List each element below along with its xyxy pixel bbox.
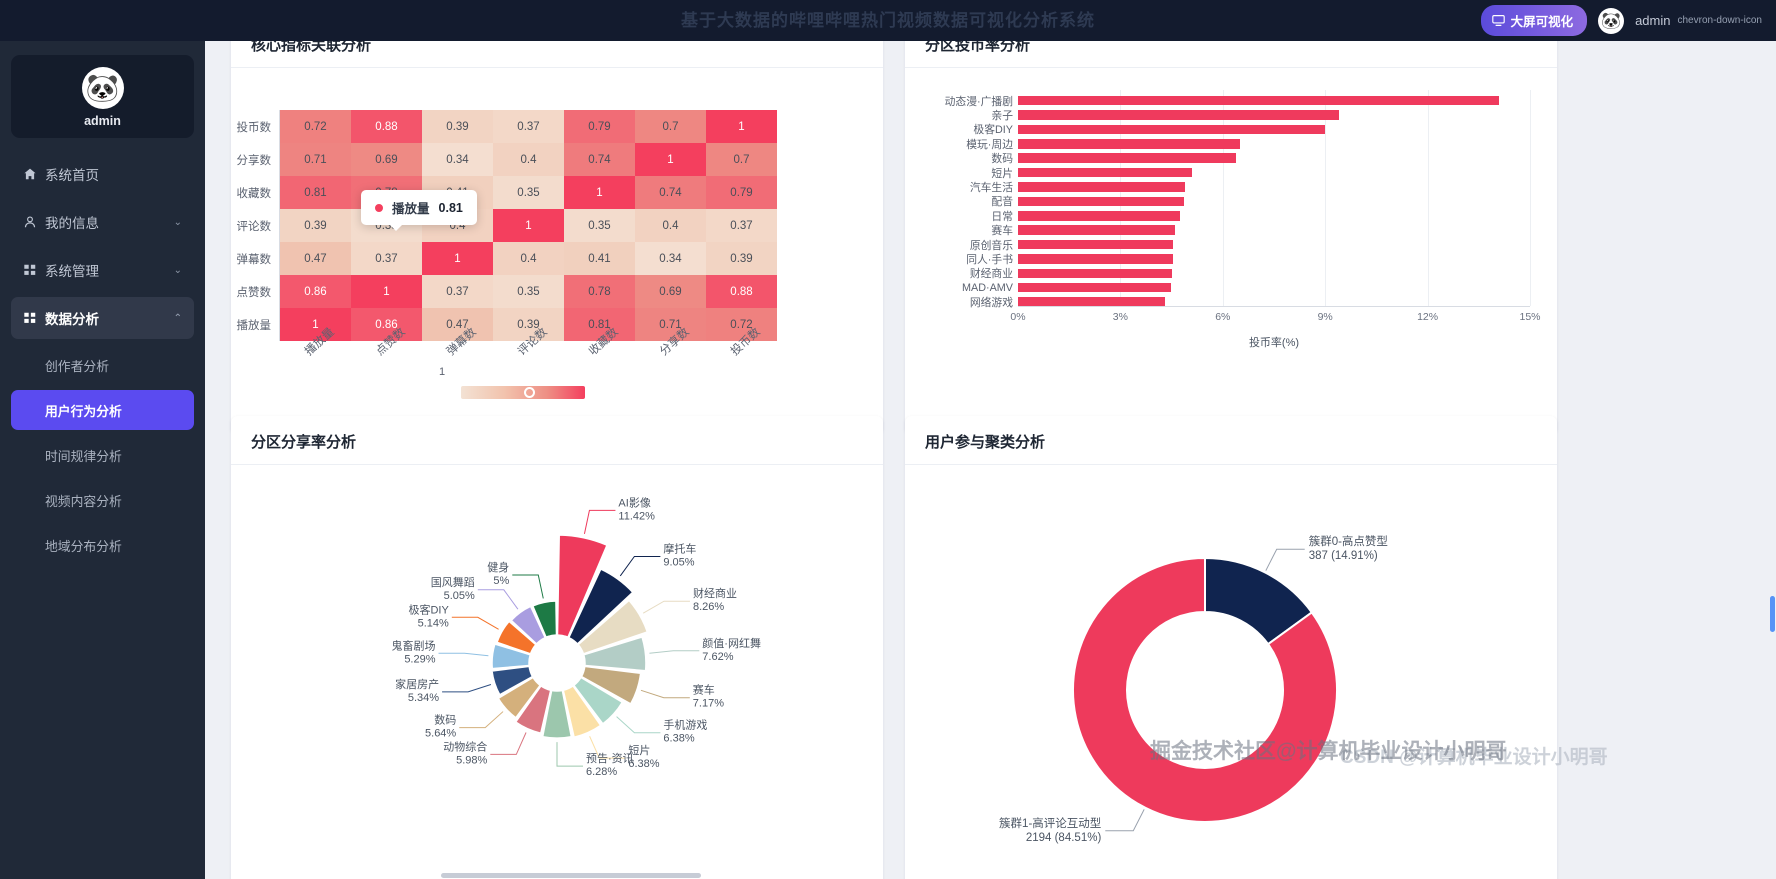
rose-label-value: 5.14% xyxy=(418,617,449,629)
bar-fill[interactable] xyxy=(1018,153,1236,163)
header-actions: 大屏可视化 🐼 admin chevron-down-icon xyxy=(1481,0,1762,41)
heatmap-cell[interactable]: 0.39 xyxy=(706,242,777,275)
sidebar-item-home[interactable]: 系统首页 xyxy=(11,153,194,195)
heatmap-y-label: 弹幕数 xyxy=(231,242,276,275)
rose-leader-line xyxy=(442,684,491,691)
sidebar-menu: 系统首页 我的信息 ⌄ 系统管理 ⌄ xyxy=(0,153,205,565)
bar-row[interactable]: 极客DIY xyxy=(1018,123,1530,136)
bar-x-axis-line xyxy=(1018,306,1530,307)
rose-label-value: 5% xyxy=(493,575,509,587)
sidebar-item-data-analysis[interactable]: 数据分析 ⌃ xyxy=(11,297,194,339)
heatmap-y-label: 投币数 xyxy=(231,110,276,143)
bar-row[interactable]: 汽车生活 xyxy=(1018,180,1530,193)
heatmap-y-axis: 投币数分享数收藏数评论数弹幕数点赞数播放量 xyxy=(231,110,276,341)
bar-chart[interactable]: 动态漫·广播剧亲子极客DIY模玩·周边数码短片汽车生活配音日常赛车原创音乐同人·… xyxy=(905,68,1557,408)
heatmap-cell[interactable]: 0.88 xyxy=(706,275,777,308)
sidebar-item-my-info-label: 我的信息 xyxy=(45,212,174,232)
rose-label-name: 预告·资讯 xyxy=(586,752,634,765)
home-icon xyxy=(23,167,45,181)
heatmap-cell[interactable]: 0.37 xyxy=(706,209,777,242)
sidebar-profile-name: admin xyxy=(11,114,194,128)
rose-chart-svg[interactable]: AI影像11.42%摩托车9.05%财经商业8.26%颜值·网红舞7.62%赛车… xyxy=(231,465,883,875)
bar-fill[interactable] xyxy=(1018,182,1185,192)
bar-fill[interactable] xyxy=(1018,96,1499,106)
bar-x-tick-label: 12% xyxy=(1417,311,1438,323)
bar-category-label: 财经商业 xyxy=(970,265,1013,281)
rose-label-value: 6.38% xyxy=(663,733,694,745)
sidebar-subitem-time-pattern-analysis[interactable]: 时间规律分析 xyxy=(11,435,194,475)
main-content: 核心指标关联分析 投币数分享数收藏数评论数弹幕数点赞数播放量 0.720.880… xyxy=(205,41,1776,879)
bar-x-tick-label: 9% xyxy=(1318,311,1333,323)
horizontal-scrollbar-thumb[interactable] xyxy=(441,873,701,878)
screen-icon xyxy=(1492,14,1505,27)
heatmap-cell[interactable]: 0.86 xyxy=(280,275,351,308)
heatmap-cell[interactable]: 0.47 xyxy=(280,242,351,275)
bar-row[interactable]: 赛车 xyxy=(1018,224,1530,237)
rose-label-name: 赛车 xyxy=(693,683,715,697)
donut-label-value: 387 (14.91%) xyxy=(1309,550,1378,562)
card-heatmap: 核心指标关联分析 投币数分享数收藏数评论数弹幕数点赞数播放量 0.720.880… xyxy=(231,41,883,434)
donut-label-value: 2194 (84.51%) xyxy=(1026,832,1102,844)
heatmap-cell[interactable]: 0.7 xyxy=(635,110,706,143)
heatmap-cell[interactable]: 0.37 xyxy=(351,242,422,275)
sidebar: 🐼 admin 系统首页 我的信息 ⌄ xyxy=(0,41,205,879)
rose-leader-line xyxy=(617,717,661,733)
bar-fill[interactable] xyxy=(1018,225,1175,235)
card-rose-chart: 分区分享率分析 AI影像11.42%摩托车9.05%财经商业8.26%颜值·网红… xyxy=(231,416,883,879)
bar-row[interactable]: 同人·手书 xyxy=(1018,252,1530,265)
sidebar-item-system-mgmt[interactable]: 系统管理 ⌄ xyxy=(11,249,194,291)
sidebar-subitem-user-behavior-analysis[interactable]: 用户行为分析 xyxy=(11,390,194,430)
rose-label-value: 5.98% xyxy=(456,754,487,766)
heatmap-cell[interactable]: 0.4 xyxy=(635,209,706,242)
sidebar-item-my-info[interactable]: 我的信息 ⌄ xyxy=(11,201,194,243)
heatmap-cell[interactable]: 0.78 xyxy=(564,275,635,308)
rose-label-name: 手机游戏 xyxy=(663,718,707,732)
grid-icon xyxy=(23,263,45,277)
rose-label-value: 7.17% xyxy=(693,698,724,710)
heatmap-cell[interactable]: 0.79 xyxy=(564,110,635,143)
bar-x-tick-label: 6% xyxy=(1215,311,1230,323)
bar-fill[interactable] xyxy=(1018,110,1339,120)
panda-avatar: 🐼 xyxy=(82,67,124,109)
heatmap-cell[interactable]: 0.4 xyxy=(493,143,564,176)
chevron-down-icon[interactable]: chevron-down-icon xyxy=(1678,15,1763,26)
rose-label-name: 健身 xyxy=(487,560,509,574)
heatmap-cell[interactable]: 0.35 xyxy=(493,275,564,308)
card-heatmap-title: 核心指标关联分析 xyxy=(231,41,883,68)
sidebar-item-system-mgmt-label: 系统管理 xyxy=(45,260,174,280)
sidebar-subitem-video-content-analysis[interactable]: 视频内容分析 xyxy=(11,480,194,520)
avatar[interactable]: 🐼 xyxy=(1598,8,1624,34)
bar-row[interactable]: 动态漫·广播剧 xyxy=(1018,94,1530,107)
heatmap-cell[interactable]: 0.34 xyxy=(635,242,706,275)
bar-row[interactable]: 财经商业 xyxy=(1018,267,1530,280)
heatmap-cell[interactable]: 0.34 xyxy=(422,143,493,176)
card-donut-chart-title: 用户参与聚类分析 xyxy=(905,416,1557,465)
rose-label-name: AI影像 xyxy=(618,496,650,509)
bigscreen-button[interactable]: 大屏可视化 xyxy=(1481,5,1588,36)
bar-fill[interactable] xyxy=(1018,254,1173,264)
bar-fill[interactable] xyxy=(1018,269,1172,279)
rose-label-value: 9.05% xyxy=(663,557,694,569)
bar-fill[interactable] xyxy=(1018,240,1173,250)
heatmap-cell[interactable]: 0.35 xyxy=(564,209,635,242)
rose-label-name: 数码 xyxy=(434,714,456,727)
rose-label-value: 7.62% xyxy=(702,651,733,663)
bar-category-label: 网络游戏 xyxy=(970,294,1013,310)
heatmap-cell[interactable]: 0.74 xyxy=(635,176,706,209)
sidebar-subitem-time-pattern-analysis-label: 时间规律分析 xyxy=(45,446,122,465)
heatmap-cell[interactable]: 0.88 xyxy=(351,110,422,143)
rose-label-value: 5.29% xyxy=(404,653,435,665)
sidebar-subitem-creator-analysis-label: 创作者分析 xyxy=(45,356,109,375)
rose-leader-line xyxy=(490,732,526,754)
heatmap-legend-handle[interactable] xyxy=(524,387,535,398)
bar-fill[interactable] xyxy=(1018,139,1240,149)
top-header-bar: 基于大数据的哔哩哔哩热门视频数据可视化分析系统 大屏可视化 🐼 admin ch… xyxy=(0,0,1776,41)
heatmap-cell[interactable]: 0.69 xyxy=(635,275,706,308)
rose-label-name: 家居房产 xyxy=(395,677,439,691)
rose-chart[interactable]: AI影像11.42%摩托车9.05%财经商业8.26%颜值·网红舞7.62%赛车… xyxy=(231,465,883,875)
heatmap-cell[interactable]: 0.79 xyxy=(706,176,777,209)
rose-label-value: 5.05% xyxy=(444,590,475,602)
rose-label-value: 5.34% xyxy=(408,692,439,704)
rose-leader-line xyxy=(649,651,699,654)
bar-row[interactable]: 短片 xyxy=(1018,166,1530,179)
card-donut-chart: 用户参与聚类分析 簇群0-高点赞型387 (14.91%)簇群1-高评论互动型2… xyxy=(905,416,1557,879)
heatmap-legend-max-value: 1 xyxy=(439,366,445,378)
bar-gridline xyxy=(1530,90,1531,306)
bar-fill[interactable] xyxy=(1018,125,1325,135)
heatmap-cell[interactable]: 1 xyxy=(564,176,635,209)
donut-label-name: 簇群1-高评论互动型 xyxy=(999,816,1101,830)
heatmap-y-label: 收藏数 xyxy=(231,176,276,209)
bar-series[interactable]: 动态漫·广播剧亲子极客DIY模玩·周边数码短片汽车生活配音日常赛车原创音乐同人·… xyxy=(1018,94,1530,310)
bar-fill[interactable] xyxy=(1018,283,1171,293)
rose-leader-line xyxy=(584,510,615,533)
bar-row[interactable]: 日常 xyxy=(1018,209,1530,222)
heatmap-cell[interactable]: 0.37 xyxy=(422,275,493,308)
rose-leader-line xyxy=(557,742,583,766)
heatmap-cell[interactable]: 0.71 xyxy=(280,143,351,176)
heatmap-cell[interactable]: 1 xyxy=(635,143,706,176)
chevron-down-icon: ⌄ xyxy=(174,217,182,228)
bar-category-label: MAD·AMV xyxy=(962,282,1013,294)
rose-label-name: 动物综合 xyxy=(443,739,487,753)
heatmap-cell[interactable]: 1 xyxy=(351,275,422,308)
heatmap-cell[interactable]: 0.35 xyxy=(493,176,564,209)
heatmap-y-label: 播放量 xyxy=(231,308,276,341)
sidebar-item-data-analysis-label: 数据分析 xyxy=(45,308,174,328)
rose-label-value: 5.64% xyxy=(425,728,456,740)
rose-label-name: 国风舞蹈 xyxy=(431,576,475,589)
rose-label-name: 颜值·网红舞 xyxy=(702,637,761,650)
heatmap-cell[interactable]: 0.7 xyxy=(706,143,777,176)
heatmap-grid[interactable]: 0.720.880.390.370.790.710.710.690.340.40… xyxy=(279,110,777,341)
bar-row[interactable]: 数码 xyxy=(1018,152,1530,165)
bar-row[interactable]: MAD·AMV xyxy=(1018,281,1530,294)
heatmap-cell[interactable]: 0.72 xyxy=(280,110,351,143)
donut-leader-line xyxy=(1266,549,1305,570)
rose-leader-line xyxy=(620,557,660,576)
bar-row[interactable]: 亲子 xyxy=(1018,108,1530,121)
heatmap-cell[interactable]: 0.81 xyxy=(280,176,351,209)
chevron-up-icon: ⌃ xyxy=(174,313,182,324)
heatmap-cell[interactable]: 0.39 xyxy=(280,209,351,242)
heatmap-cell[interactable]: 1 xyxy=(422,242,493,275)
rose-label-name: 摩托车 xyxy=(663,542,696,556)
heatmap-y-label: 点赞数 xyxy=(231,275,276,308)
heatmap-cell[interactable]: 0.41 xyxy=(564,242,635,275)
heatmap-cell[interactable]: 0.4 xyxy=(493,242,564,275)
rose-label-name: 极客DIY xyxy=(408,602,449,616)
rose-label-value: 6.28% xyxy=(586,766,617,778)
rose-leader-line xyxy=(452,617,499,629)
donut-leader-line xyxy=(1105,809,1144,830)
heatmap-cell[interactable]: 0.37 xyxy=(493,110,564,143)
tooltip-series-dot xyxy=(375,204,383,212)
heatmap-cell[interactable]: 1 xyxy=(493,209,564,242)
bar-x-tick-label: 3% xyxy=(1113,311,1128,323)
heatmap-y-label: 分享数 xyxy=(231,143,276,176)
rose-label-name: 财经商业 xyxy=(693,586,737,600)
rose-leader-line xyxy=(439,653,489,656)
sidebar-profile-card: 🐼 admin xyxy=(11,55,194,138)
heatmap-cell[interactable]: 0.39 xyxy=(422,110,493,143)
rose-leader-line xyxy=(643,601,690,613)
donut-chart[interactable]: 簇群0-高点赞型387 (14.91%)簇群1-高评论互动型2194 (84.5… xyxy=(905,465,1557,875)
bar-fill[interactable] xyxy=(1018,211,1180,221)
rose-leader-line xyxy=(512,575,543,598)
tooltip-series-name: 播放量 xyxy=(392,198,430,217)
vertical-scrollbar-thumb[interactable] xyxy=(1770,596,1775,632)
rose-leader-line xyxy=(641,690,690,697)
heatmap-cell[interactable]: 1 xyxy=(706,110,777,143)
rose-label-value: 11.42% xyxy=(618,510,655,522)
donut-label-name: 簇群0-高点赞型 xyxy=(1309,534,1388,548)
sidebar-subitem-creator-analysis[interactable]: 创作者分析 xyxy=(11,345,194,385)
sidebar-subitem-user-behavior-analysis-label: 用户行为分析 xyxy=(45,401,122,420)
app-root: 基于大数据的哔哩哔哩热门视频数据可视化分析系统 大屏可视化 🐼 admin ch… xyxy=(0,0,1776,879)
heatmap-color-legend[interactable]: 1 xyxy=(461,386,585,399)
heatmap-tooltip: 播放量 0.81 xyxy=(361,190,477,225)
grid-icon xyxy=(23,311,45,325)
heatmap-cell[interactable]: 0.69 xyxy=(351,143,422,176)
bar-row[interactable]: 配音 xyxy=(1018,195,1530,208)
sidebar-item-home-label: 系统首页 xyxy=(45,164,182,184)
bar-x-axis-title: 投币率(%) xyxy=(1018,334,1530,350)
heatmap-y-label: 评论数 xyxy=(231,209,276,242)
user-icon xyxy=(23,215,45,229)
bar-fill[interactable] xyxy=(1018,197,1184,207)
card-rose-chart-title: 分区分享率分析 xyxy=(231,416,883,465)
card-bar-chart-title: 分区投币率分析 xyxy=(905,41,1557,68)
header-username: admin xyxy=(1635,13,1670,28)
sidebar-subitem-region-distribution-analysis-label: 地域分布分析 xyxy=(45,536,122,555)
bar-fill[interactable] xyxy=(1018,168,1192,178)
rose-label-name: 鬼畜剧场 xyxy=(392,638,436,652)
chevron-down-icon: ⌄ xyxy=(174,265,182,276)
sidebar-subitem-video-content-analysis-label: 视频内容分析 xyxy=(45,491,122,510)
card-bar-chart: 分区投币率分析 动态漫·广播剧亲子极客DIY模玩·周边数码短片汽车生活配音日常赛… xyxy=(905,41,1557,434)
vertical-scrollbar[interactable] xyxy=(1769,41,1776,879)
donut-chart-svg[interactable]: 簇群0-高点赞型387 (14.91%)簇群1-高评论互动型2194 (84.5… xyxy=(905,465,1557,875)
rose-leader-line xyxy=(459,712,503,728)
rose-label-value: 8.26% xyxy=(693,601,724,613)
bigscreen-button-label: 大屏可视化 xyxy=(1511,11,1574,30)
heatmap-chart[interactable]: 投币数分享数收藏数评论数弹幕数点赞数播放量 0.720.880.390.370.… xyxy=(231,68,883,408)
bar-row[interactable]: 模玩·周边 xyxy=(1018,137,1530,150)
tooltip-series-value: 0.81 xyxy=(439,201,463,215)
bar-x-tick-label: 0% xyxy=(1010,311,1025,323)
bar-x-tick-label: 15% xyxy=(1519,311,1540,323)
sidebar-subitem-region-distribution-analysis[interactable]: 地域分布分析 xyxy=(11,525,194,565)
rose-leader-line xyxy=(478,590,518,609)
heatmap-cell[interactable]: 0.74 xyxy=(564,143,635,176)
bar-row[interactable]: 原创音乐 xyxy=(1018,238,1530,251)
